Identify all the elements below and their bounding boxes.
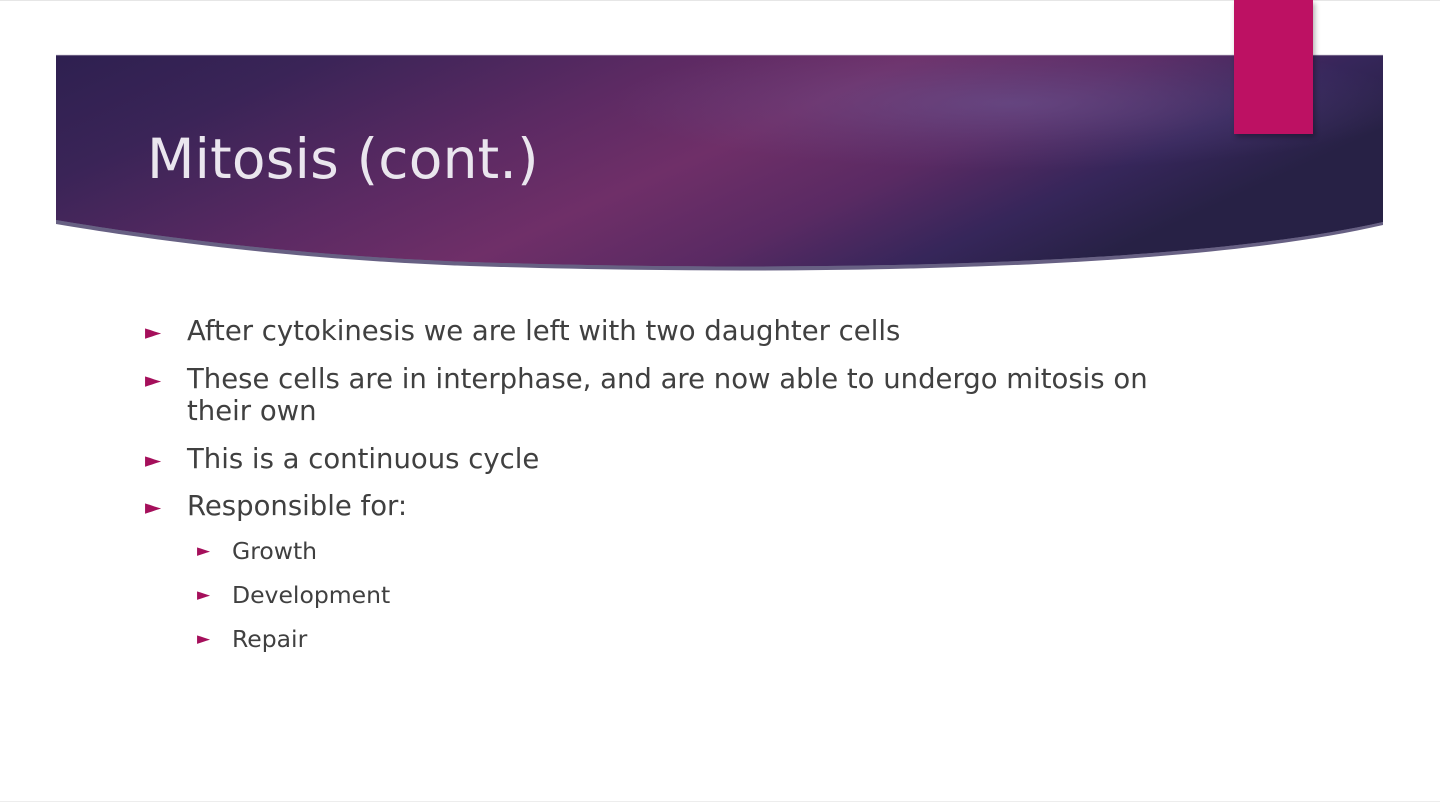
slide-frame-bottom-rule xyxy=(0,801,1440,802)
triangle-bullet-icon: ► xyxy=(145,363,187,391)
bullet-text: These cells are in interphase, and are n… xyxy=(187,363,1155,427)
bullet-text: Responsible for: xyxy=(187,490,1155,522)
sub-bullet-item: ► Development xyxy=(197,581,1097,609)
sub-bullet-text: Development xyxy=(232,581,1097,609)
bullet-text: This is a continuous cycle xyxy=(187,443,1155,475)
triangle-bullet-icon: ► xyxy=(197,537,232,560)
sub-bullet-text: Growth xyxy=(232,537,1097,565)
sub-bullet-item: ► Repair xyxy=(197,625,1097,653)
bullet-item: ► These cells are in interphase, and are… xyxy=(145,363,1155,427)
bullet-item: ► After cytokinesis we are left with two… xyxy=(145,315,1155,347)
bullet-text: After cytokinesis we are left with two d… xyxy=(187,315,1155,347)
triangle-bullet-icon: ► xyxy=(145,315,187,343)
presentation-slide: Mitosis (cont.) ► After cytokinesis we a… xyxy=(0,0,1440,810)
bullet-item: ► Responsible for: xyxy=(145,490,1155,522)
sub-bullet-text: Repair xyxy=(232,625,1097,653)
slide-body: ► After cytokinesis we are left with two… xyxy=(0,0,1440,810)
bullet-item: ► This is a continuous cycle xyxy=(145,443,1155,475)
triangle-bullet-icon: ► xyxy=(197,581,232,604)
triangle-bullet-icon: ► xyxy=(145,443,187,471)
triangle-bullet-icon: ► xyxy=(145,490,187,518)
sub-bullet-item: ► Growth xyxy=(197,537,1097,565)
triangle-bullet-icon: ► xyxy=(197,625,232,648)
